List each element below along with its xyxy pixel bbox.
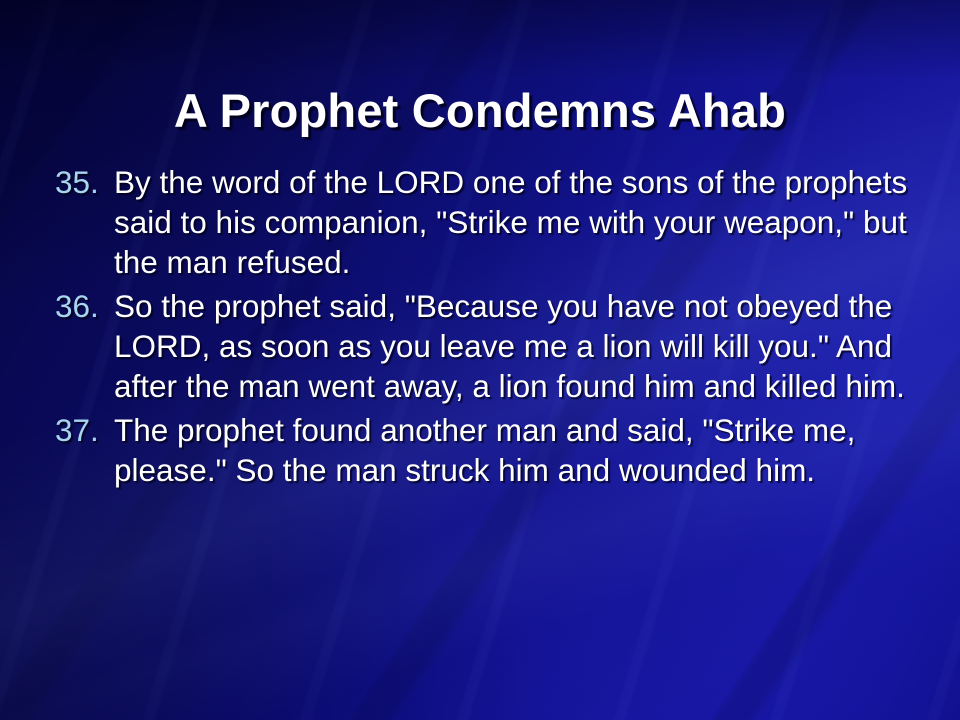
verse-item: 35. By the word of the LORD one of the s… — [52, 162, 924, 282]
verse-item: 37. The prophet found another man and sa… — [52, 410, 924, 490]
slide-title: A Prophet Condemns Ahab — [0, 86, 960, 135]
verse-number: 37. — [55, 410, 99, 450]
verse-number: 36. — [55, 286, 99, 326]
verse-list: 35. By the word of the LORD one of the s… — [52, 162, 924, 494]
verse-number: 35. — [55, 162, 99, 202]
verse-text: So the prophet said, "Because you have n… — [114, 286, 924, 406]
presentation-slide: A Prophet Condemns Ahab 35. By the word … — [0, 0, 960, 720]
verse-text: The prophet found another man and said, … — [114, 410, 924, 490]
slide-content: A Prophet Condemns Ahab 35. By the word … — [0, 0, 960, 720]
verse-item: 36. So the prophet said, "Because you ha… — [52, 286, 924, 406]
verse-text: By the word of the LORD one of the sons … — [114, 162, 924, 282]
